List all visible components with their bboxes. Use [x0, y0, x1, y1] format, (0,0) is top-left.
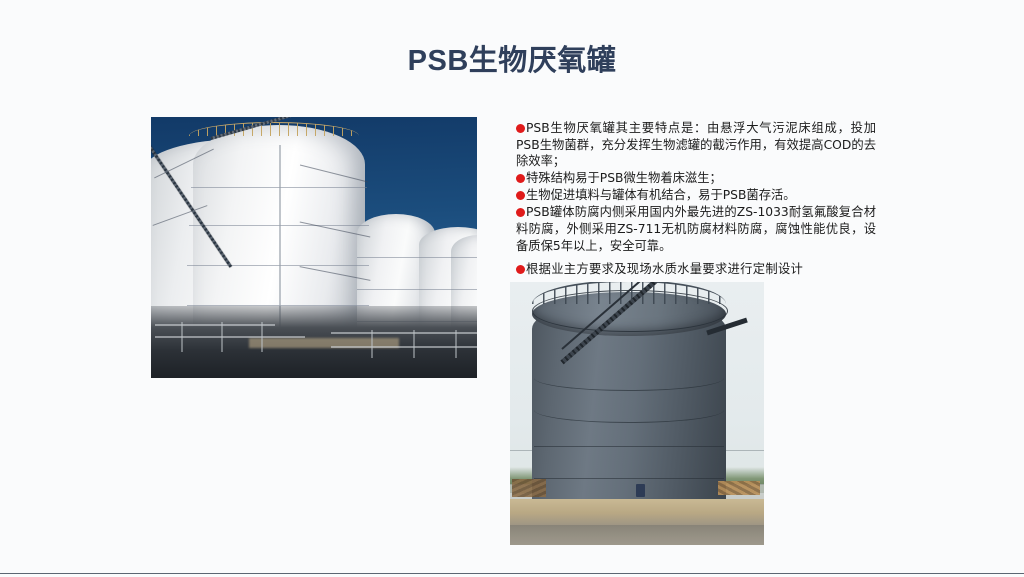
rack-post — [181, 322, 183, 352]
weld-ring — [187, 265, 369, 266]
bullet-dot-icon — [516, 265, 525, 274]
weld-seam — [534, 478, 724, 479]
rack-post — [261, 322, 263, 352]
rack-post — [455, 330, 457, 358]
pipe-run — [155, 324, 275, 326]
feature-bullet-list: PSB生物厌氧罐其主要特点是：由悬浮大气污泥床组成，投加PSB生物菌群，充分发挥… — [516, 120, 876, 278]
list-item: PSB罐体防腐内侧采用国内外最先进的ZS-1033耐氢氟酸复合材料防腐，外侧采用… — [516, 204, 876, 254]
list-item-text: 生物促进填料与罐体有机结合，易于PSB菌存活。 — [526, 188, 796, 202]
list-item-text: 特殊结构易于PSB微生物着床滋生； — [526, 171, 722, 185]
page-title: PSB生物厌氧罐 — [0, 44, 1024, 78]
bottom-divider — [0, 573, 1024, 574]
weld-ring — [357, 289, 477, 290]
list-item-text: 根据业主方要求及现场水质水量要求进行定制设计 — [526, 262, 803, 276]
weld-ring — [357, 257, 477, 258]
blue-drum — [636, 484, 645, 497]
list-item: 特殊结构易于PSB微生物着床滋生； — [516, 170, 876, 187]
bullet-dot-icon — [516, 174, 525, 183]
bullet-dot-icon — [516, 191, 525, 200]
weld-seam — [534, 446, 724, 447]
pipe-run — [155, 336, 305, 338]
rack-post — [413, 330, 415, 358]
slide-canvas: PSB生物厌氧罐 — [0, 0, 1024, 577]
dark-anaerobic-tank-photo — [510, 282, 764, 545]
lumber-stack — [718, 481, 760, 495]
bullet-dot-icon — [516, 124, 525, 133]
white-storage-tank-farm-photo — [151, 117, 477, 378]
list-item-text: PSB罐体防腐内侧采用国内外最先进的ZS-1033耐氢氟酸复合材料防腐，外侧采用… — [516, 205, 876, 252]
rack-post — [371, 330, 373, 358]
list-item: PSB生物厌氧罐其主要特点是：由悬浮大气污泥床组成，投加PSB生物菌群，充分发挥… — [516, 120, 876, 170]
bullet-dot-icon — [516, 208, 525, 217]
list-item: 根据业主方要求及现场水质水量要求进行定制设计 — [516, 261, 876, 278]
debris-pile — [512, 479, 546, 497]
ground-shadow — [510, 525, 764, 545]
rack-post — [221, 322, 223, 352]
list-item-text: PSB生物厌氧罐其主要特点是：由悬浮大气污泥床组成，投加PSB生物菌群，充分发挥… — [516, 121, 876, 168]
list-item: 生物促进填料与罐体有机结合，易于PSB菌存活。 — [516, 187, 876, 204]
